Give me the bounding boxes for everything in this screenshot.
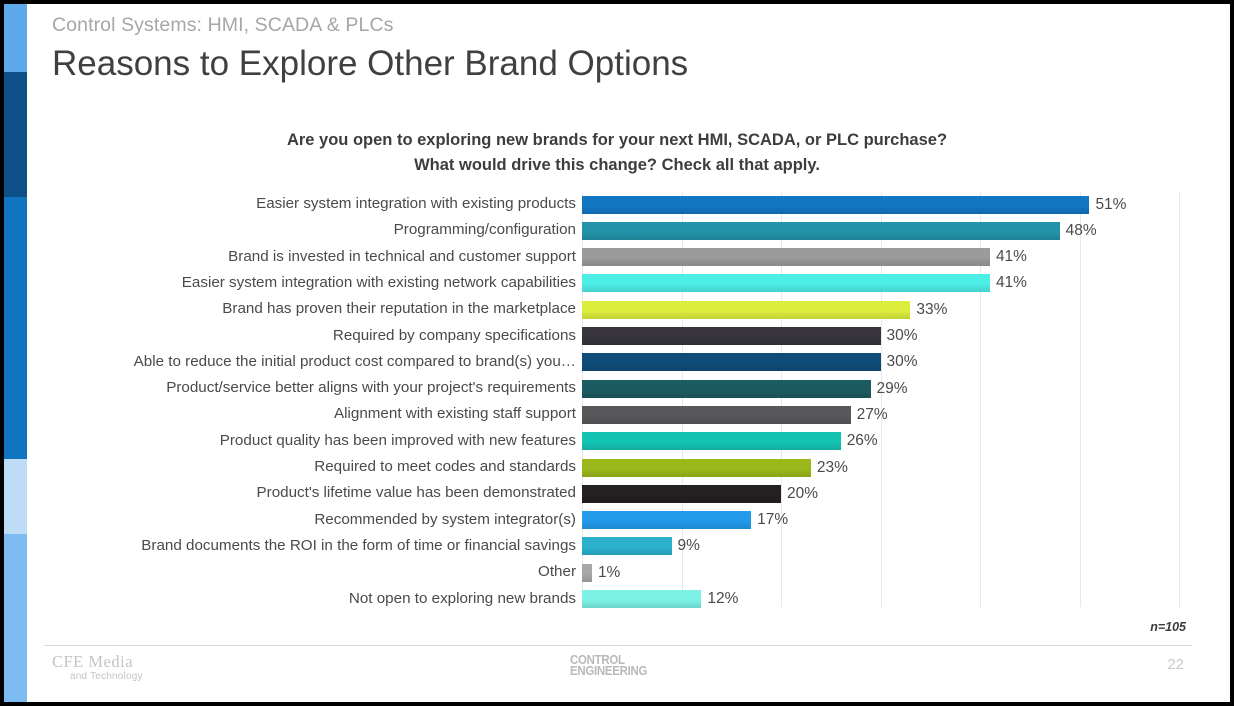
chart-value-label: 27% bbox=[857, 405, 888, 424]
chart-bar bbox=[582, 353, 881, 371]
chart-row: Easier system integration with existing … bbox=[4, 271, 1230, 297]
chart-bar bbox=[582, 248, 990, 266]
chart-category-label: Not open to exploring new brands bbox=[36, 589, 576, 608]
chart-row: Product/service better aligns with your … bbox=[4, 376, 1230, 402]
chart-row: Brand is invested in technical and custo… bbox=[4, 245, 1230, 271]
chart-value-label: 33% bbox=[916, 300, 947, 319]
chart-bar bbox=[582, 196, 1089, 214]
chart-value-label: 20% bbox=[787, 484, 818, 503]
control-engineering-logo-line-2: ENGINEERING bbox=[570, 665, 647, 676]
chart-value-label: 30% bbox=[887, 352, 918, 371]
chart-bar bbox=[582, 274, 990, 292]
chart-bar bbox=[582, 432, 841, 450]
chart-value-label: 30% bbox=[887, 326, 918, 345]
chart-value-label: 12% bbox=[707, 589, 738, 608]
chart-bar bbox=[582, 564, 592, 582]
chart-category-label: Other bbox=[36, 562, 576, 581]
control-engineering-logo: CONTROL ENGINEERING bbox=[570, 654, 647, 676]
chart-row: Brand documents the ROI in the form of t… bbox=[4, 534, 1230, 560]
chart-row: Recommended by system integrator(s)17% bbox=[4, 508, 1230, 534]
chart-question: Are you open to exploring new brands for… bbox=[112, 128, 1122, 178]
chart-bar bbox=[582, 406, 851, 424]
chart-category-label: Alignment with existing staff support bbox=[36, 404, 576, 423]
chart-bar bbox=[582, 485, 781, 503]
chart-row: Programming/configuration48% bbox=[4, 218, 1230, 244]
chart-row: Required to meet codes and standards23% bbox=[4, 455, 1230, 481]
chart-row: Easier system integration with existing … bbox=[4, 192, 1230, 218]
footer-divider bbox=[44, 645, 1192, 646]
chart-bar bbox=[582, 511, 751, 529]
chart-category-label: Product quality has been improved with n… bbox=[36, 431, 576, 450]
chart-value-label: 1% bbox=[598, 563, 620, 582]
rail-segment-2 bbox=[4, 72, 27, 197]
page-title: Reasons to Explore Other Brand Options bbox=[52, 40, 1152, 88]
chart-value-label: 48% bbox=[1066, 221, 1097, 240]
chart-value-label: 29% bbox=[877, 379, 908, 398]
chart-row: Product's lifetime value has been demons… bbox=[4, 481, 1230, 507]
chart-bar bbox=[582, 537, 672, 555]
chart-category-label: Able to reduce the initial product cost … bbox=[36, 352, 576, 371]
chart-bar bbox=[582, 301, 910, 319]
chart-category-label: Product/service better aligns with your … bbox=[36, 378, 576, 397]
chart-category-label: Brand has proven their reputation in the… bbox=[36, 299, 576, 318]
cfe-media-logo-line-2: and Technology bbox=[70, 672, 143, 682]
page-number: 22 bbox=[1167, 656, 1184, 673]
cfe-media-logo: CFE Media and Technology bbox=[52, 654, 143, 682]
slide-header: Control Systems: HMI, SCADA & PLCs Reaso… bbox=[52, 12, 1152, 88]
chart-value-label: 17% bbox=[757, 510, 788, 529]
chart-bar bbox=[582, 459, 811, 477]
chart-bar bbox=[582, 222, 1060, 240]
chart-row: Required by company specifications30% bbox=[4, 324, 1230, 350]
chart-category-label: Easier system integration with existing … bbox=[36, 194, 576, 213]
chart-row: Alignment with existing staff support27% bbox=[4, 402, 1230, 428]
chart-bar bbox=[582, 380, 871, 398]
slide-eyebrow: Control Systems: HMI, SCADA & PLCs bbox=[52, 12, 1152, 38]
chart-category-label: Required by company specifications bbox=[36, 326, 576, 345]
chart-bar bbox=[582, 327, 881, 345]
rail-segment-1 bbox=[4, 4, 27, 72]
chart-value-label: 9% bbox=[678, 536, 700, 555]
sample-size-note: n=105 bbox=[1150, 620, 1186, 634]
chart-row: Product quality has been improved with n… bbox=[4, 429, 1230, 455]
chart-row: Not open to exploring new brands12% bbox=[4, 587, 1230, 613]
chart-row: Other1% bbox=[4, 560, 1230, 586]
chart-category-label: Brand documents the ROI in the form of t… bbox=[36, 536, 576, 555]
chart-category-label: Required to meet codes and standards bbox=[36, 457, 576, 476]
slide-canvas: Control Systems: HMI, SCADA & PLCs Reaso… bbox=[4, 4, 1230, 702]
chart-question-line-1: Are you open to exploring new brands for… bbox=[112, 128, 1122, 153]
chart-value-label: 51% bbox=[1095, 195, 1126, 214]
chart-row: Brand has proven their reputation in the… bbox=[4, 297, 1230, 323]
chart-row: Able to reduce the initial product cost … bbox=[4, 350, 1230, 376]
chart-category-label: Brand is invested in technical and custo… bbox=[36, 247, 576, 266]
bar-chart: Easier system integration with existing … bbox=[4, 192, 1230, 610]
chart-value-label: 23% bbox=[817, 458, 848, 477]
chart-category-label: Product's lifetime value has been demons… bbox=[36, 483, 576, 502]
chart-category-label: Recommended by system integrator(s) bbox=[36, 510, 576, 529]
chart-value-label: 41% bbox=[996, 273, 1027, 292]
chart-question-line-2: What would drive this change? Check all … bbox=[112, 153, 1122, 178]
chart-category-label: Programming/configuration bbox=[36, 220, 576, 239]
chart-value-label: 26% bbox=[847, 431, 878, 450]
chart-value-label: 41% bbox=[996, 247, 1027, 266]
cfe-media-logo-line-1: CFE Media bbox=[52, 654, 143, 671]
chart-bar bbox=[582, 590, 701, 608]
chart-category-label: Easier system integration with existing … bbox=[36, 273, 576, 292]
